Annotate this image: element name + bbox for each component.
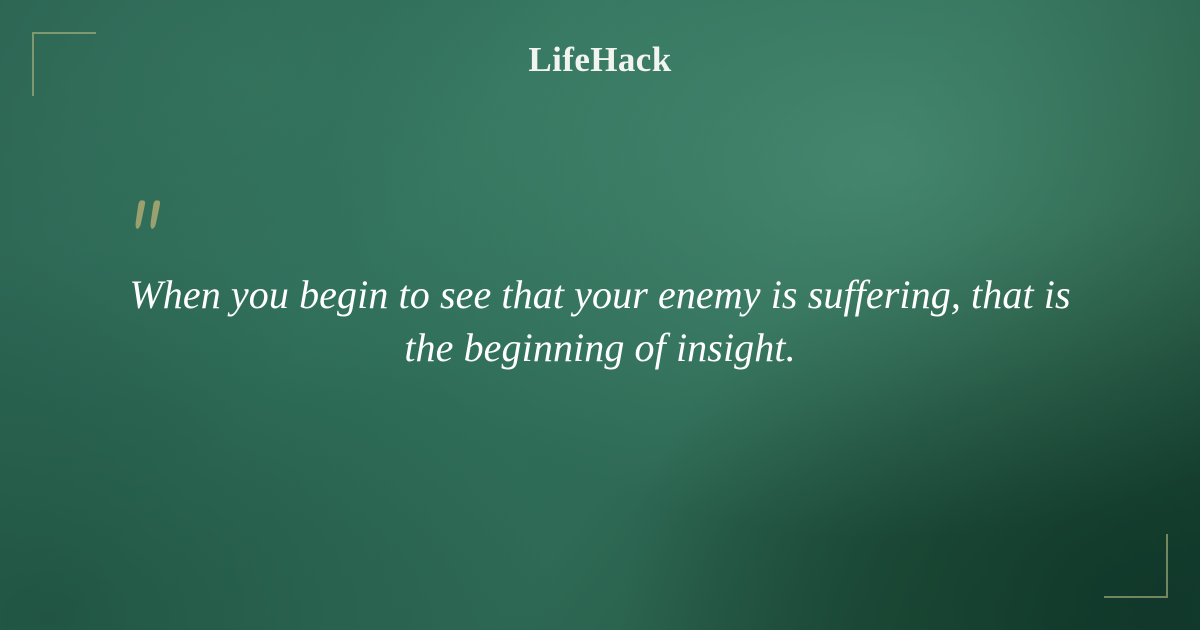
brand-logo: LifeHack	[0, 40, 1200, 80]
corner-bracket-bottom-right	[1104, 534, 1168, 598]
quote-text: When you begin to see that your enemy is…	[110, 268, 1090, 374]
quote-mark-icon	[132, 196, 176, 240]
quote-card: LifeHack When you begin to see that your…	[0, 0, 1200, 630]
